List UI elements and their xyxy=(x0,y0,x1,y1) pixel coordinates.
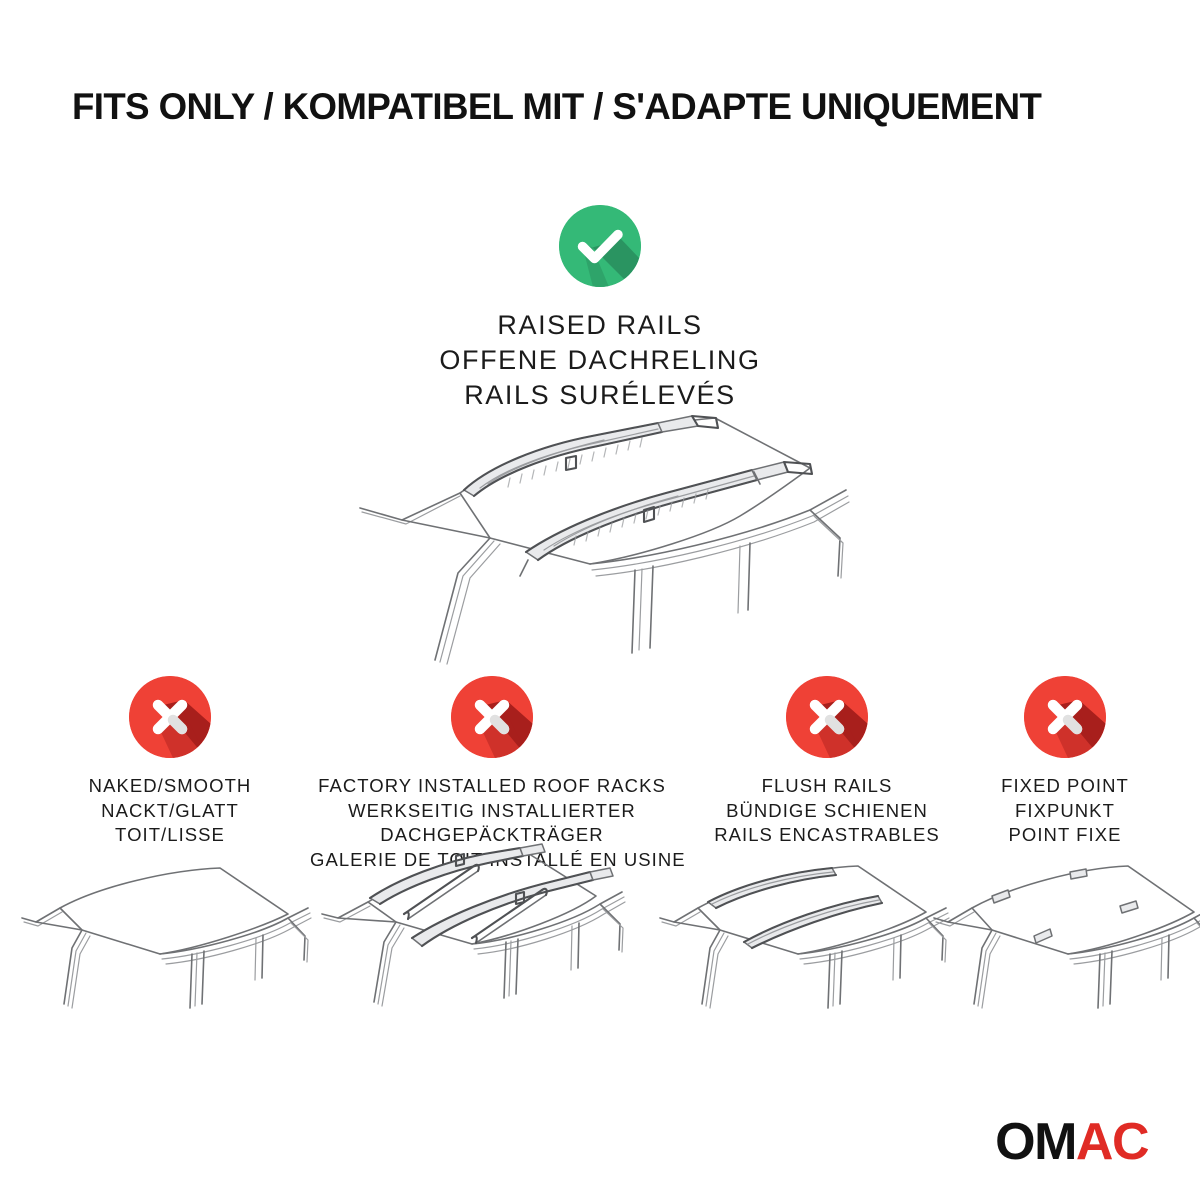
car-roof-naked-smooth-illustration xyxy=(20,856,320,1036)
incompatible-label-fixed-point: FIXED POINT FIXPUNKT POINT FIXE xyxy=(960,774,1170,848)
incompatible-section-factory-roof-racks: FACTORY INSTALLED ROOF RACKS WERKSEITIG … xyxy=(310,676,674,872)
label-line-1: NAKED/SMOOTH xyxy=(30,774,310,799)
label-line-3: POINT FIXE xyxy=(960,823,1170,848)
logo-text-dark: OM xyxy=(995,1113,1076,1171)
label-line-1: FIXED POINT xyxy=(960,774,1170,799)
incompatible-section-flush-rails: FLUSH RAILS BÜNDIGE SCHIENEN RAILS ENCAS… xyxy=(686,676,968,848)
incompatible-sections: NAKED/SMOOTH NACKT/GLATT TOIT/LISSE xyxy=(0,676,1200,1076)
x-circle-icon xyxy=(1024,676,1106,758)
label-line-2: WERKSEITIG INSTALLIERTER xyxy=(310,799,674,824)
label-line-1: FLUSH RAILS xyxy=(686,774,968,799)
label-line-1: FACTORY INSTALLED ROOF RACKS xyxy=(310,774,674,799)
label-line-2: BÜNDIGE SCHIENEN xyxy=(686,799,968,824)
compatibility-infographic: FITS ONLY / KOMPATIBEL MIT / S'ADAPTE UN… xyxy=(0,0,1200,1200)
label-line-2: NACKT/GLATT xyxy=(30,799,310,824)
x-circle-icon xyxy=(786,676,868,758)
x-circle-icon xyxy=(451,676,533,758)
page-title: FITS ONLY / KOMPATIBEL MIT / S'ADAPTE UN… xyxy=(72,86,1121,128)
compatible-label-line-2: OFFENE DACHRELING xyxy=(300,343,900,378)
incompatible-label-naked-smooth: NAKED/SMOOTH NACKT/GLATT TOIT/LISSE xyxy=(30,774,310,848)
omac-logo: OMAC xyxy=(995,1116,1148,1168)
car-roof-flush-rails-illustration xyxy=(656,854,956,1036)
incompatible-section-naked-smooth: NAKED/SMOOTH NACKT/GLATT TOIT/LISSE xyxy=(30,676,310,848)
incompatible-section-fixed-point: FIXED POINT FIXPUNKT POINT FIXE xyxy=(960,676,1170,848)
compatible-label-line-1: RAISED RAILS xyxy=(300,308,900,343)
label-line-3: TOIT/LISSE xyxy=(30,823,310,848)
car-roof-factory-roof-racks-illustration xyxy=(304,832,652,1036)
label-line-2: FIXPUNKT xyxy=(960,799,1170,824)
compatible-section: RAISED RAILS OFFENE DACHRELING RAILS SUR… xyxy=(300,205,900,413)
car-roof-fixed-point-illustration xyxy=(930,854,1200,1036)
label-line-3: RAILS ENCASTRABLES xyxy=(686,823,968,848)
car-roof-with-raised-rails-illustration xyxy=(340,398,860,670)
incompatible-label-flush-rails: FLUSH RAILS BÜNDIGE SCHIENEN RAILS ENCAS… xyxy=(686,774,968,848)
x-circle-icon xyxy=(129,676,211,758)
logo-text-red: AC xyxy=(1076,1113,1148,1171)
check-circle-icon xyxy=(559,205,641,287)
